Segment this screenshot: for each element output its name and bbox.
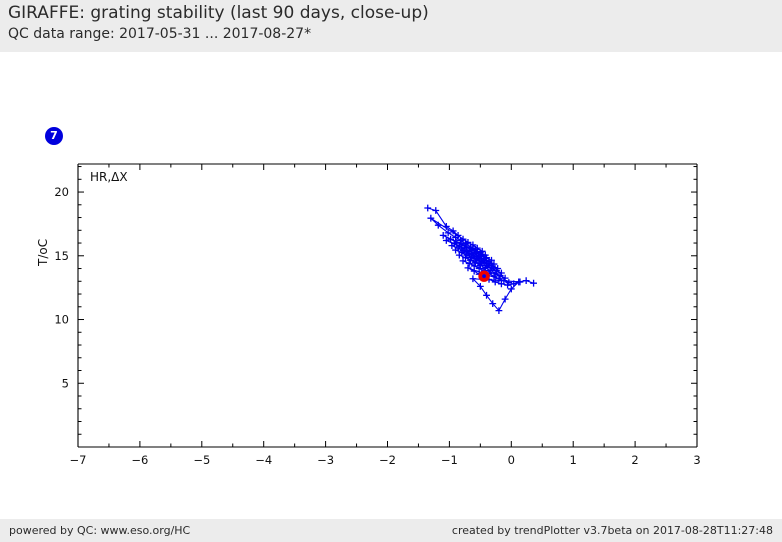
x-axis-tick-label: −3 xyxy=(317,453,334,467)
plot-area: −7−6−5−4−3−2−101235101520 xyxy=(0,0,782,542)
highlight-point-center xyxy=(482,274,486,278)
data-series xyxy=(424,205,537,314)
x-axis-tick-label: −5 xyxy=(193,453,210,467)
x-axis-tick-label: 3 xyxy=(693,453,700,467)
y-axis-title: T/oC xyxy=(36,239,50,266)
data-point-marker xyxy=(530,280,537,287)
y-axis-tick-label: 15 xyxy=(54,249,69,263)
x-axis-tick-label: −6 xyxy=(131,453,148,467)
x-axis-tick-label: −4 xyxy=(255,453,272,467)
footer-created-by: created by trendPlotter v3.7beta on 2017… xyxy=(452,524,773,537)
chart-svg: −7−6−5−4−3−2−101235101520 xyxy=(0,0,782,542)
x-axis-tick-label: −2 xyxy=(379,453,396,467)
x-axis-tick-label: −7 xyxy=(70,453,87,467)
y-axis-tick-label: 5 xyxy=(62,376,69,390)
x-axis-tick-label: 2 xyxy=(631,453,638,467)
series-label: HR,ΔX xyxy=(90,170,128,184)
footer-powered-by: powered by QC: www.eso.org/HC xyxy=(9,524,190,537)
x-axis-tick-label: 0 xyxy=(508,453,515,467)
data-point-marker xyxy=(523,277,530,284)
data-point-marker xyxy=(502,296,509,303)
y-axis-tick-label: 10 xyxy=(54,313,69,327)
y-axis-tick-label: 20 xyxy=(54,185,69,199)
x-axis-tick-label: 1 xyxy=(570,453,577,467)
axis-frame xyxy=(78,164,697,447)
data-point-marker xyxy=(465,264,472,271)
data-point-marker xyxy=(432,207,439,214)
data-point-marker xyxy=(443,223,450,230)
data-point-marker xyxy=(424,205,431,212)
x-axis-tick-label: −1 xyxy=(441,453,458,467)
